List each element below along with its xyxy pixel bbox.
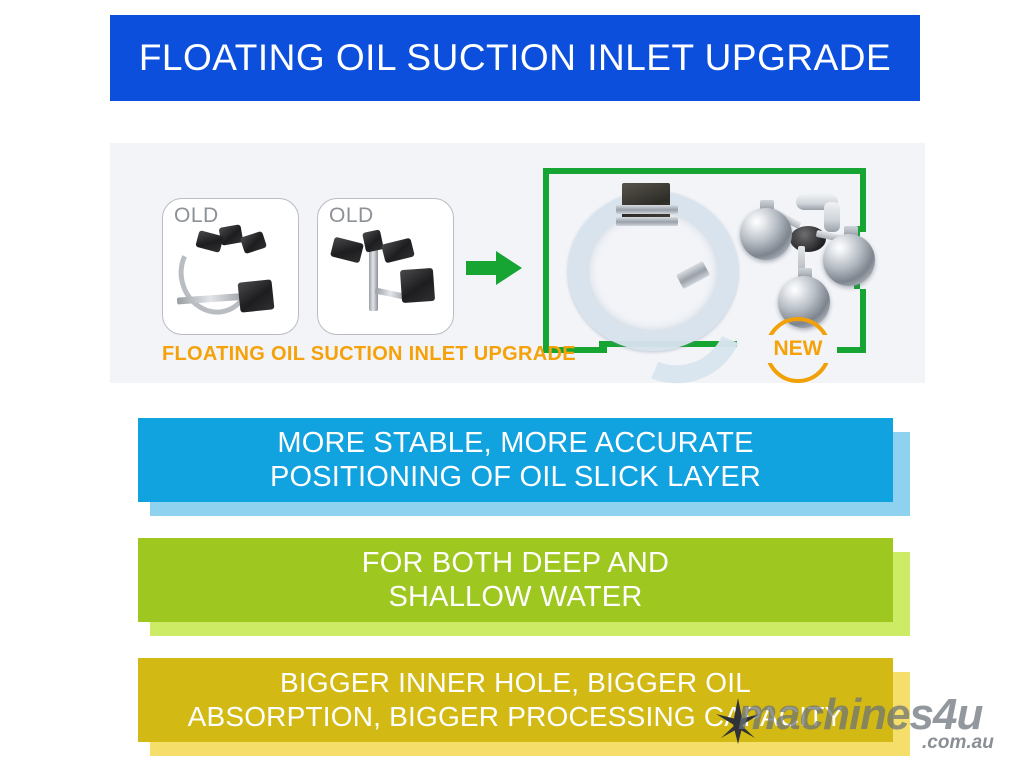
old-float-block-1c	[240, 231, 267, 254]
feature-text-1: MORE STABLE, MORE ACCURATE POSITIONING O…	[270, 426, 761, 494]
old-float-block-2b	[330, 237, 364, 264]
old-product-box-2: OLD	[317, 198, 454, 335]
page-title: FLOATING OIL SUCTION INLET UPGRADE	[139, 37, 891, 79]
old-rod-graphic-2	[369, 249, 378, 311]
new-hose-coil-graphic	[560, 183, 765, 348]
feature-row-1: MORE STABLE, MORE ACCURATE POSITIONING O…	[138, 418, 898, 516]
watermark-tld: .com.au	[922, 732, 994, 754]
feature-row-3: BIGGER INNER HOLE, BIGGER OIL ABSORPTION…	[138, 658, 898, 756]
panel-caption: FLOATING OIL SUCTION INLET UPGRADE	[162, 343, 576, 366]
green-right-arrow-icon	[466, 251, 522, 285]
new-badge: NEW	[765, 317, 831, 383]
hose-clamp-upper	[616, 205, 678, 214]
old-float-block-1a	[219, 224, 244, 246]
feature-text-3: BIGGER INNER HOLE, BIGGER OIL ABSORPTION…	[188, 666, 844, 734]
new-float-ball-assembly-graphic	[740, 188, 875, 328]
float-ball-left	[740, 208, 792, 260]
old-float-block-2c	[381, 238, 415, 264]
old-product-label-2: OLD	[329, 204, 374, 228]
new-badge-label: NEW	[759, 335, 837, 363]
manifold-elbow-down	[824, 202, 840, 232]
product-image-panel: OLD OLD	[110, 143, 925, 383]
old-product-box-1: OLD	[162, 198, 299, 335]
bracket-line-top	[599, 168, 804, 174]
page-title-banner: FLOATING OIL SUCTION INLET UPGRADE	[110, 15, 920, 101]
old-float-block-2a	[362, 229, 384, 252]
old-float-block-1d	[238, 279, 275, 312]
float-ball-right	[823, 234, 875, 286]
feature-bar-3: BIGGER INNER HOLE, BIGGER OIL ABSORPTION…	[138, 658, 893, 742]
feature-bar-1: MORE STABLE, MORE ACCURATE POSITIONING O…	[138, 418, 893, 502]
hose-clamp-lower	[616, 217, 678, 226]
old-product-label-1: OLD	[174, 204, 219, 228]
feature-bar-2: FOR BOTH DEEP AND SHALLOW WATER	[138, 538, 893, 622]
feature-text-2: FOR BOTH DEEP AND SHALLOW WATER	[362, 546, 669, 614]
feature-row-2: FOR BOTH DEEP AND SHALLOW WATER	[138, 538, 898, 636]
hose-mount-bracket	[622, 183, 670, 221]
old-float-block-2d	[400, 268, 435, 303]
bracket-line-left	[543, 226, 549, 289]
